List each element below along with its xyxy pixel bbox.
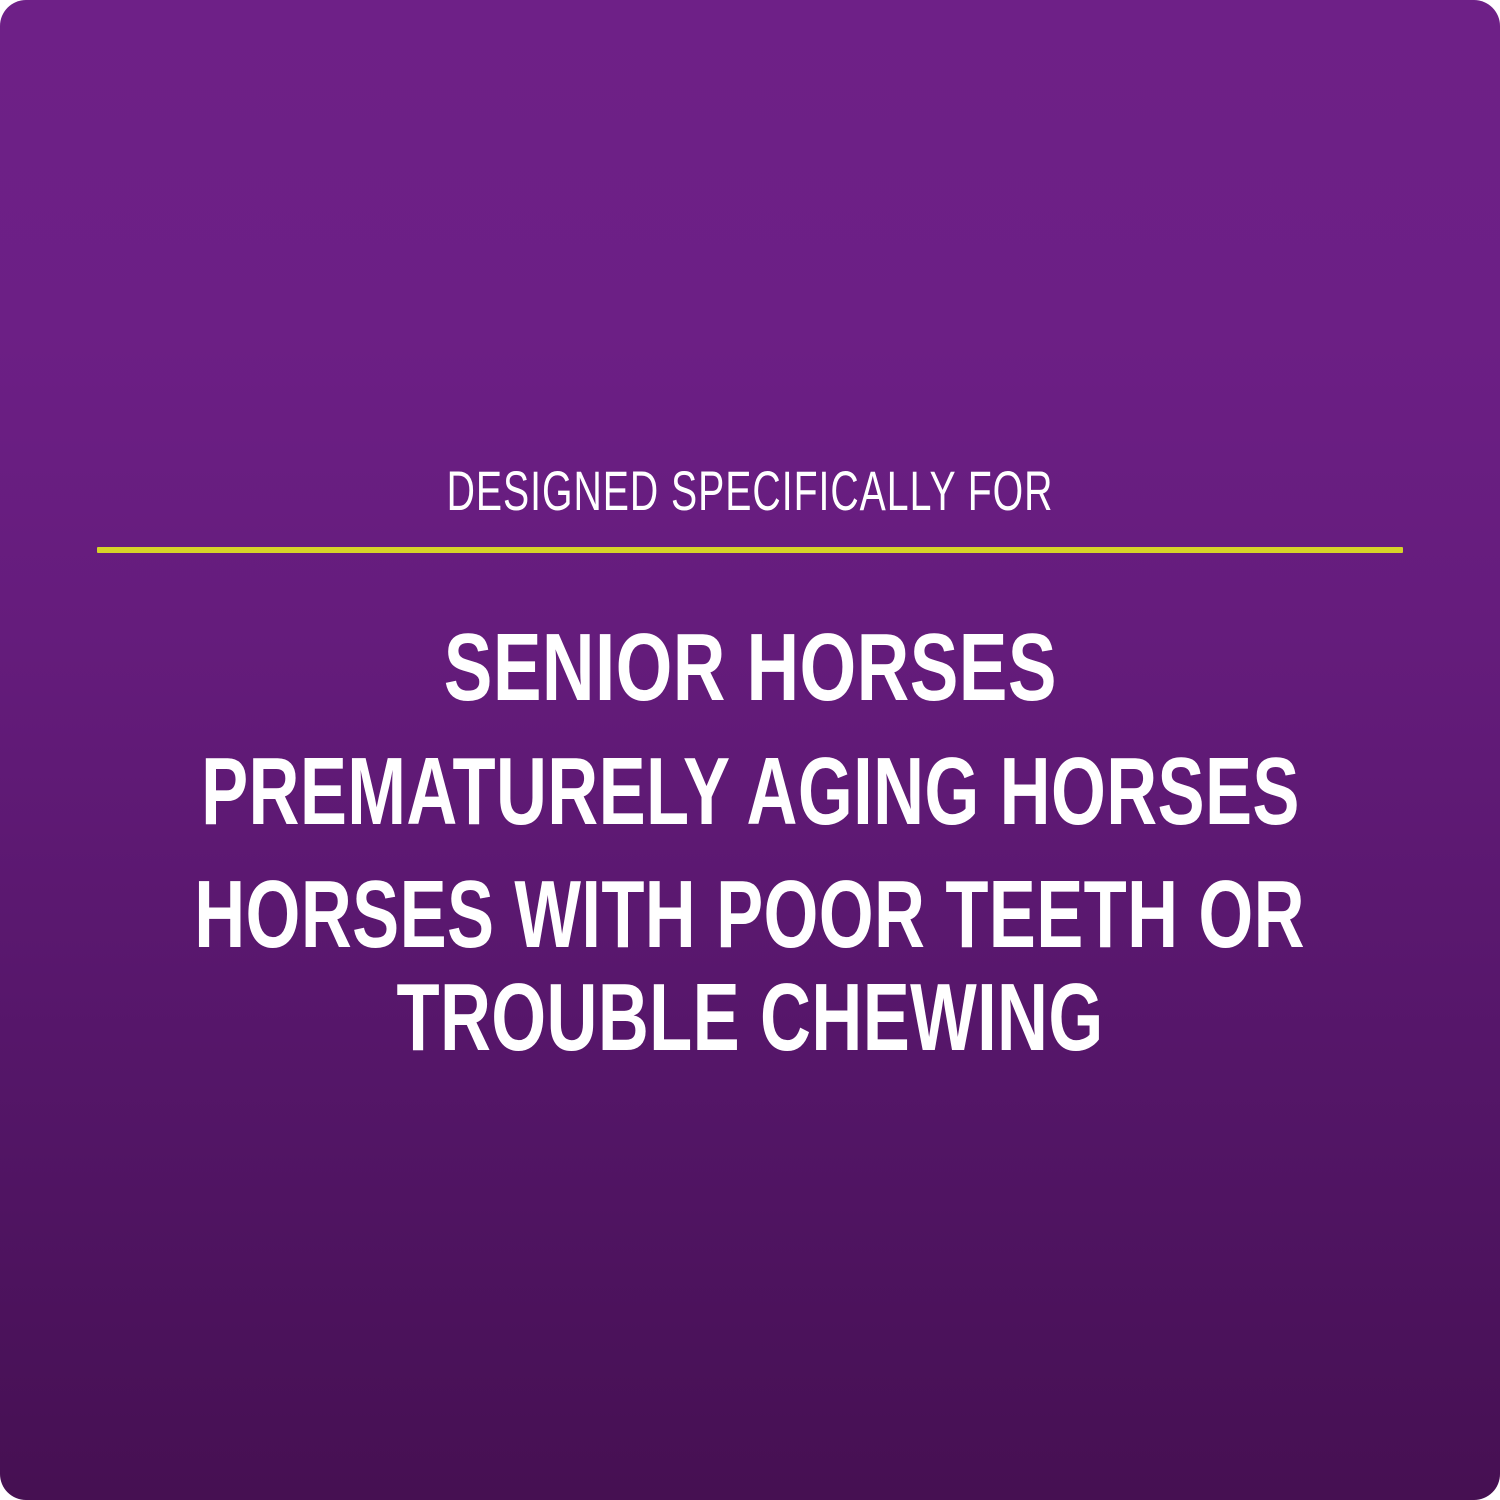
kicker-text: DESIGNED SPECIFICALLY FOR (293, 462, 1207, 520)
panel-content: DESIGNED SPECIFICALLY FOR SENIOR HORSES … (0, 0, 1500, 1500)
headline-group: SENIOR HORSES PREMATURELY AGING HORSES H… (50, 606, 1450, 1060)
headline-line-2: PREMATURELY AGING HORSES (201, 730, 1300, 854)
yellow-divider-rule (97, 547, 1403, 553)
promo-panel: DESIGNED SPECIFICALLY FOR SENIOR HORSES … (0, 0, 1500, 1500)
headline-line-3: HORSES WITH POOR TEETH OR (195, 854, 1306, 976)
headline-line-1: SENIOR HORSES (443, 606, 1056, 730)
headline-line-4: TROUBLE CHEWING (396, 976, 1103, 1060)
kicker-block: DESIGNED SPECIFICALLY FOR (97, 462, 1403, 553)
